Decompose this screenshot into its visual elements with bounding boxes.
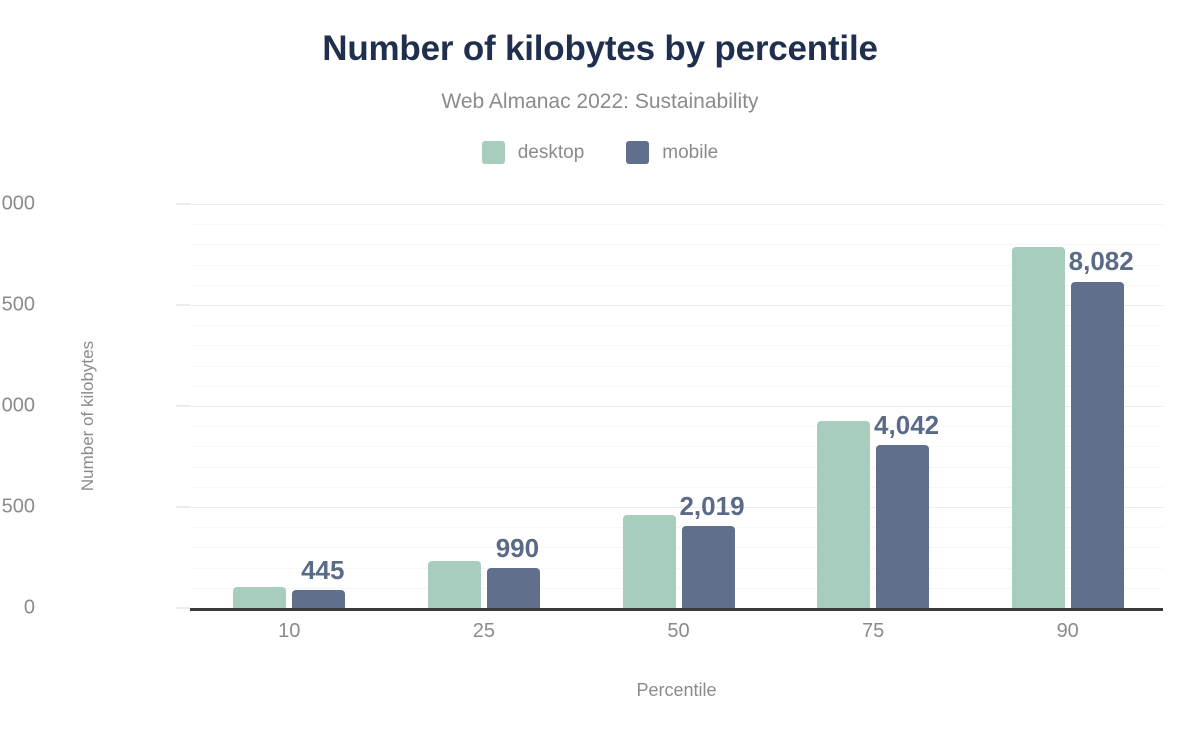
bar-mobile-75[interactable] <box>876 445 929 608</box>
y-axis-tick-mark <box>176 608 190 609</box>
chart-title: Number of kilobytes by percentile <box>0 30 1200 69</box>
x-axis-tick-label-50: 50 <box>619 620 739 643</box>
bar-mobile-50[interactable] <box>682 526 735 608</box>
bar-value-label-25: 990 <box>496 533 539 564</box>
legend-item-desktop[interactable]: desktop <box>482 141 585 164</box>
chart-container: Number of kilobytes by percentile Web Al… <box>0 0 1200 742</box>
x-axis-line <box>190 608 1163 611</box>
bar-desktop-75[interactable] <box>817 421 870 608</box>
bar-desktop-25[interactable] <box>428 561 481 608</box>
bar-value-label-10: 445 <box>301 555 344 586</box>
y-axis-tick-mark <box>176 406 190 407</box>
bar-value-label-90: 8,082 <box>1069 246 1134 277</box>
y-axis-tick-mark <box>176 204 190 205</box>
bar-desktop-50[interactable] <box>623 515 676 608</box>
bar-value-label-75: 4,042 <box>874 410 939 441</box>
x-axis-tick-label-75: 75 <box>813 620 933 643</box>
bar-mobile-25[interactable] <box>487 568 540 608</box>
bar-mobile-90[interactable] <box>1071 282 1124 609</box>
plot-area <box>190 204 1163 608</box>
chart-subtitle: Web Almanac 2022: Sustainability <box>0 90 1200 114</box>
y-axis-tick-label: 7,500 <box>0 294 35 317</box>
y-axis-tick-label: 10,000 <box>0 193 35 216</box>
y-axis-tick-mark <box>176 507 190 508</box>
chart-legend: desktopmobile <box>0 141 1200 164</box>
legend-label: desktop <box>518 142 585 164</box>
x-axis-title: Percentile <box>190 680 1163 701</box>
x-axis-tick-label-25: 25 <box>424 620 544 643</box>
bar-value-label-50: 2,019 <box>679 491 744 522</box>
legend-label: mobile <box>662 142 718 164</box>
x-axis-tick-label-90: 90 <box>1008 620 1128 643</box>
bar-desktop-90[interactable] <box>1012 247 1065 608</box>
y-axis-tick-label: 0 <box>0 597 35 620</box>
bar-mobile-10[interactable] <box>292 590 345 608</box>
x-axis-tick-label-10: 10 <box>229 620 349 643</box>
legend-item-mobile[interactable]: mobile <box>626 141 718 164</box>
y-axis-tick-label: 5,000 <box>0 395 35 418</box>
bar-desktop-10[interactable] <box>233 587 286 608</box>
y-axis-title: Number of kilobytes <box>78 316 98 516</box>
legend-swatch-icon <box>626 141 649 164</box>
y-axis-tick-mark <box>176 305 190 306</box>
legend-swatch-icon <box>482 141 505 164</box>
y-axis-tick-label: 2,500 <box>0 496 35 519</box>
